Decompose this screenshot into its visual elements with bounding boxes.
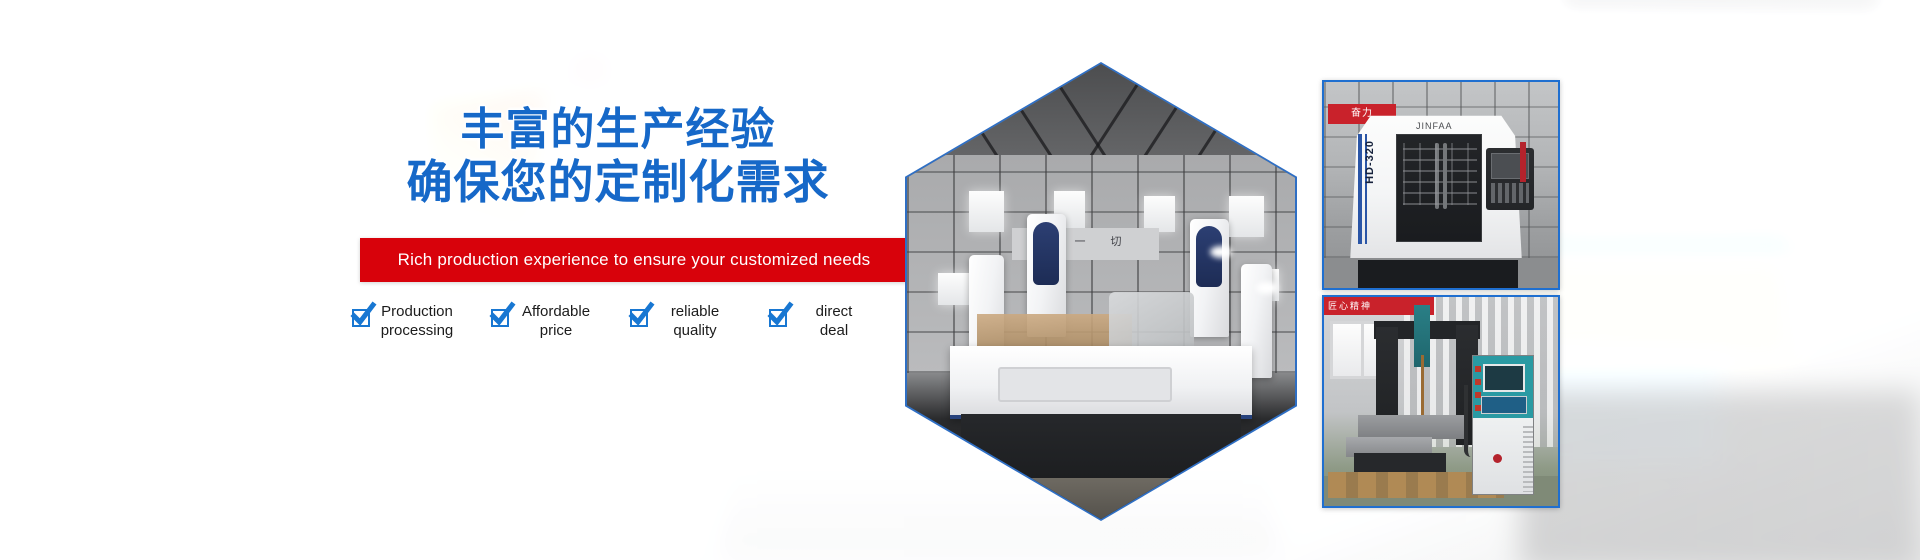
- headline: 丰富的生产经验 确保您的定制化需求: [328, 104, 908, 208]
- feature-item-reliable-quality[interactable]: reliable quality: [630, 302, 769, 340]
- machine-brand-label: JINFAA: [1416, 121, 1453, 131]
- machine-table: [1358, 415, 1464, 439]
- red-accent: [1520, 142, 1526, 182]
- photo-cnc-machining-center: 定 一 切: [907, 64, 1295, 519]
- checkbox-checked-icon: [352, 309, 370, 327]
- checkbox-checked-icon: [630, 309, 648, 327]
- machine-column-right: [1190, 219, 1229, 337]
- thumbnail-hd320-machining-center[interactable]: 奋力 HD-320 JINFAA: [1322, 80, 1560, 290]
- thumbnail-gantry-boring-machine[interactable]: 匠心精神: [1322, 295, 1560, 508]
- workshop-window: [1229, 196, 1264, 237]
- photo-gantry-machine: 匠心精神: [1324, 297, 1558, 506]
- door-window: [1403, 143, 1477, 205]
- feature-label: direct deal: [796, 302, 872, 340]
- subtitle-bar: Rich production experience to ensure you…: [360, 238, 908, 282]
- copy-block: 丰富的生产经验 确保您的定制化需求 Rich production experi…: [328, 104, 908, 208]
- feature-label: Production processing: [379, 302, 455, 340]
- control-cabinet: [1472, 355, 1534, 495]
- subtitle-text: Rich production experience to ensure you…: [398, 250, 871, 270]
- feature-item-production-processing[interactable]: Production processing: [352, 302, 491, 340]
- machine-bed: [950, 346, 1253, 419]
- control-keypad: [1491, 183, 1529, 203]
- machine-model-label: HD-320: [1364, 140, 1376, 184]
- machine-doors: [1396, 134, 1482, 242]
- ceiling-lamp: [1210, 246, 1232, 258]
- hero-banner: 丰富的生产经验 确保您的定制化需求 Rich production experi…: [0, 0, 1920, 560]
- feature-item-direct-deal[interactable]: direct deal: [769, 302, 908, 340]
- cnc-control-panel: [1486, 148, 1534, 210]
- feature-list: Production processing Affordable price r…: [352, 302, 908, 340]
- cabinet-screen: [1483, 364, 1525, 392]
- feature-item-affordable-price[interactable]: Affordable price: [491, 302, 630, 340]
- workshop-floor: [907, 478, 1295, 519]
- coiled-cable: [1464, 385, 1471, 457]
- feature-label: reliable quality: [657, 302, 733, 340]
- hexagon-photo-clip: 定 一 切: [907, 64, 1295, 519]
- workshop-window: [938, 273, 973, 305]
- emergency-stop-button: [1493, 454, 1502, 463]
- feature-label: Affordable price: [518, 302, 594, 340]
- photo-hd320: 奋力 HD-320 JINFAA: [1324, 82, 1558, 288]
- headline-line-2: 确保您的定制化需求: [328, 156, 908, 208]
- cabinet-vent: [1523, 426, 1533, 492]
- workshop-window: [969, 191, 1004, 232]
- checkbox-checked-icon: [491, 309, 509, 327]
- machine-stripe: [1358, 134, 1362, 244]
- headline-line-1: 丰富的生产经验: [328, 104, 908, 156]
- cabinet-panel: [1481, 396, 1527, 414]
- machine-plinth: [1358, 260, 1518, 290]
- checkbox-checked-icon: [769, 309, 787, 327]
- main-product-photo-hexagon[interactable]: 定 一 切: [905, 62, 1297, 521]
